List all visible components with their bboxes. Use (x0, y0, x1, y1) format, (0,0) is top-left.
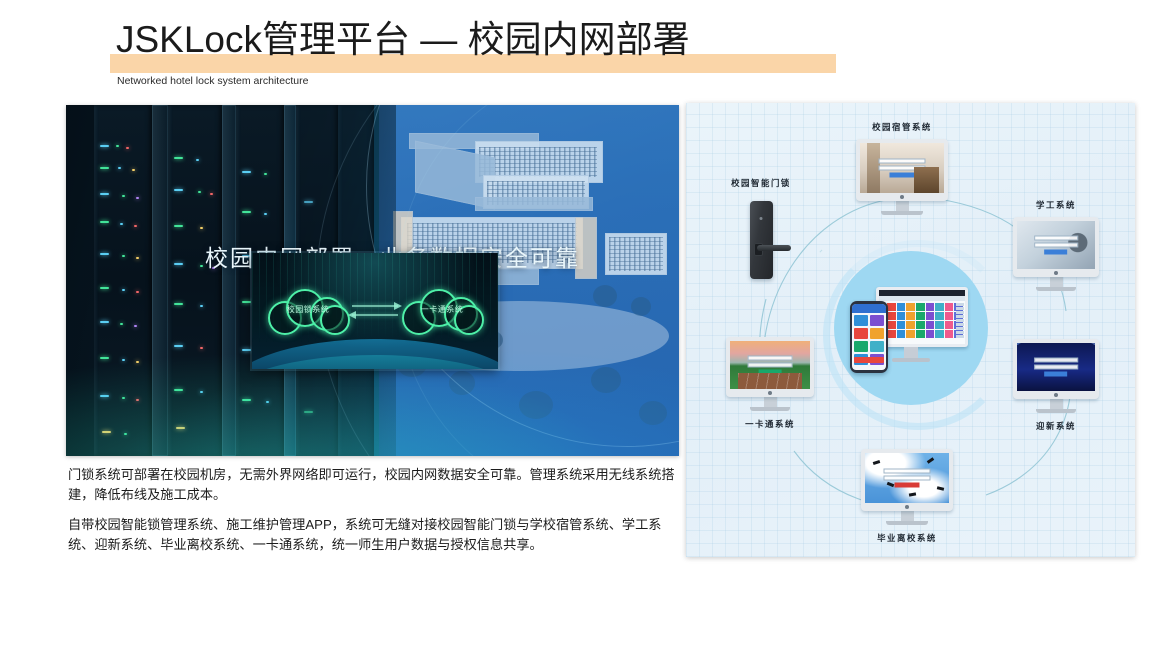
page-title: JSKLock管理平台 — 校园内网部署 (116, 17, 690, 63)
node-label-smart-lock: 校园智能门锁 (696, 177, 826, 189)
hub-desktop-dashboard (876, 287, 968, 347)
cloud-campus-card-system: 一卡通系统 (402, 287, 482, 333)
slide-canvas: JSKLock管理平台 — 校园内网部署 Networked hotel loc… (0, 0, 1170, 658)
node-label-student-affairs: 学工系统 (986, 199, 1126, 211)
bidirectional-arrows-icon (348, 303, 402, 319)
node-student-affairs[interactable]: 学工系统 (986, 199, 1126, 291)
node-freshman-welcome[interactable]: 迎新系统 (986, 339, 1126, 432)
smart-door-lock-device (696, 201, 826, 283)
imac-monitor-freshman-welcome (1013, 339, 1099, 413)
node-label-dorm: 校园宿管系统 (829, 121, 975, 133)
node-dorm-management[interactable]: 校园宿管系统 (829, 121, 975, 215)
cloud-campus-lock-system: 校园锁系统 (268, 287, 348, 333)
integration-diagram-panel: 校园宿管系统 校园智能门锁 (686, 103, 1135, 557)
imac-monitor-student-affairs (1013, 217, 1099, 291)
node-campus-card[interactable]: 一卡通系统 (700, 337, 840, 430)
hub-mobile-app (850, 301, 888, 373)
cloud-label-right: 一卡通系统 (402, 304, 482, 315)
imac-monitor-dorm (856, 139, 948, 215)
node-smart-door-lock[interactable]: 校园智能门锁 (696, 177, 826, 283)
hero-inner-screen: 校园锁系统 一卡通系统 (252, 253, 498, 369)
central-management-hub (834, 251, 988, 405)
cloud-label-left: 校园锁系统 (268, 304, 348, 315)
imac-monitor-campus-card (726, 337, 814, 411)
node-graduation-checkout[interactable]: 毕业离校系统 (834, 449, 980, 544)
node-label-freshman-welcome: 迎新系统 (986, 420, 1126, 432)
node-label-graduation: 毕业离校系统 (834, 532, 980, 544)
body-paragraph-1: 门锁系统可部署在校园机房，无需外界网络即可运行，校园内网数据安全可靠。管理系统采… (68, 465, 676, 504)
imac-monitor-graduation (861, 449, 953, 525)
node-label-campus-card: 一卡通系统 (700, 418, 840, 430)
hero-image: 校园内网部署，业务数据安全可靠 校园锁系统 (66, 105, 679, 456)
page-subtitle: Networked hotel lock system architecture (117, 74, 308, 88)
body-paragraph-2: 自带校园智能锁管理系统、施工维护管理APP，系统可无缝对接校园智能门锁与学校宿管… (68, 515, 676, 554)
